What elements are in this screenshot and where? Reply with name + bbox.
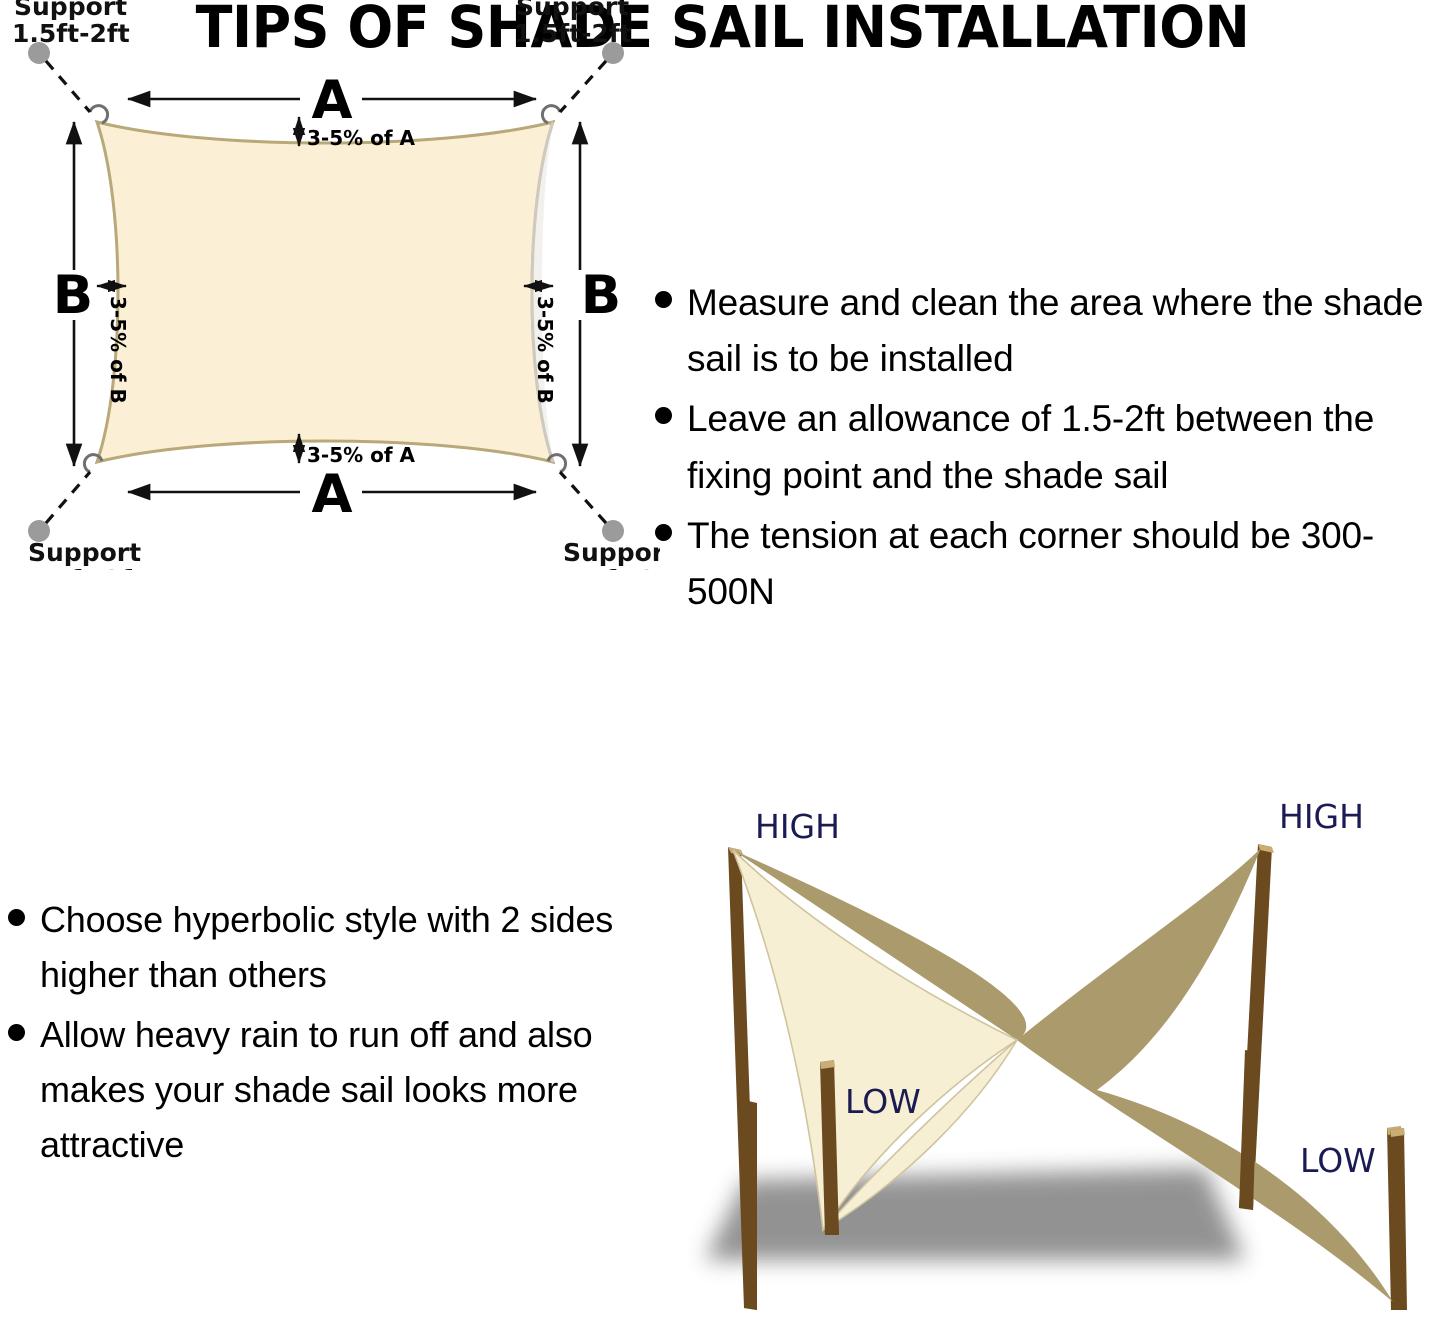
curve-label-left: 3-5% of B: [106, 296, 130, 404]
curve-label-top: 3-5% of A: [307, 126, 416, 150]
tip-text: Allow heavy rain to run off and also mak…: [40, 1008, 623, 1172]
bullet-dot-icon: [655, 524, 672, 541]
tip-text: The tension at each corner should be 300…: [687, 508, 1445, 620]
post-low-right-front: [1390, 1128, 1407, 1310]
support-label-bottom-right-line2: 1.5ft-2ft: [561, 565, 660, 570]
label-low-left: LOW: [845, 1082, 921, 1121]
list-item: The tension at each corner should be 300…: [655, 508, 1445, 620]
bullet-dot-icon: [8, 909, 25, 926]
rectangular-sail-diagram: A A B B 3-5% of A 3-5% of A 3-5% of B 3-…: [0, 0, 660, 570]
hyperbolic-sail-diagram: HIGH HIGH LOW LOW: [645, 790, 1445, 1319]
list-item: Allow heavy rain to run off and also mak…: [8, 1008, 623, 1172]
curve-label-bottom: 3-5% of A: [307, 443, 416, 467]
post-high-left-front: [744, 1100, 757, 1310]
label-high-left: HIGH: [755, 807, 840, 846]
bullet-dot-icon: [655, 407, 672, 424]
list-item: Leave an allowance of 1.5-2ft between th…: [655, 391, 1445, 503]
bullet-dot-icon: [655, 291, 672, 308]
ground-shadow: [705, 1168, 1245, 1260]
list-item: Choose hyperbolic style with 2 sides hig…: [8, 893, 623, 1002]
support-label-bottom-left-line1: Support: [28, 538, 141, 567]
support-label-top-left-line2: 1.5ft-2ft: [12, 19, 130, 48]
tip-text: Measure and clean the area where the sha…: [687, 275, 1445, 387]
tips-list-left: Choose hyperbolic style with 2 sides hig…: [8, 893, 623, 1179]
label-high-right: HIGH: [1279, 797, 1364, 836]
dim-label-a-bottom: A: [311, 464, 352, 525]
label-low-right: LOW: [1300, 1141, 1376, 1180]
support-label-top-right-line1: Support: [516, 0, 629, 21]
bullet-dot-icon: [8, 1024, 25, 1041]
dim-label-a-top: A: [311, 70, 352, 131]
tip-text: Choose hyperbolic style with 2 sides hig…: [40, 893, 623, 1002]
sail-shape: [97, 122, 553, 462]
support-label-bottom-left-line2: 1.5ft-2ft: [26, 565, 144, 570]
tip-text: Leave an allowance of 1.5-2ft between th…: [687, 391, 1445, 503]
tips-list-right: Measure and clean the area where the sha…: [655, 275, 1445, 624]
support-label-bottom-right-line1: Support: [563, 538, 660, 567]
dim-label-b-right: B: [581, 265, 621, 326]
dim-label-b-left: B: [53, 265, 93, 326]
curve-label-right: 3-5% of B: [533, 296, 557, 404]
support-label-top-right-line2: 1.5ft-2ft: [514, 19, 632, 48]
sail-surface-light: [733, 850, 1017, 1230]
support-label-top-left-line1: Support: [14, 0, 127, 21]
list-item: Measure and clean the area where the sha…: [655, 275, 1445, 387]
